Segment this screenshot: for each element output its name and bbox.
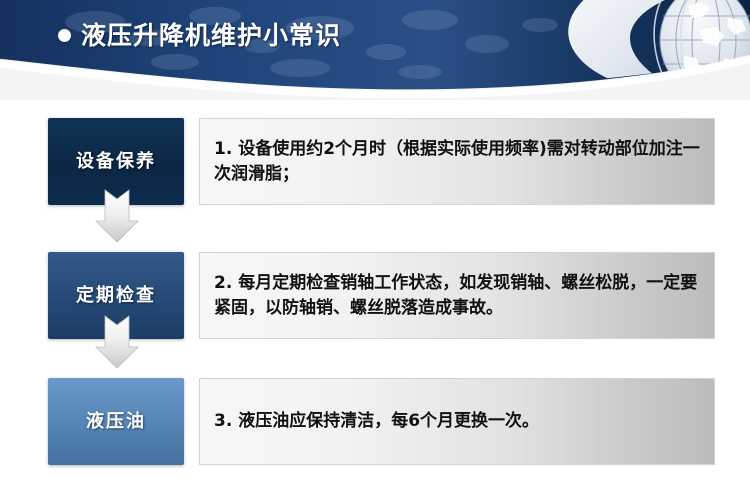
down-arrow-icon: [95, 314, 139, 370]
page-title: 液压升降机维护小常识: [58, 23, 341, 48]
down-arrow-shape: [95, 314, 139, 370]
content-rows: 设备保养 1. 设备使用约2个月时（根据实际使用频率)需对转动部位加注一次润滑脂…: [0, 100, 750, 495]
slide-root: 液压升降机维护小常识 设备保养 1. 设备使用约2个月时（根据实际使用频率)需对…: [0, 0, 750, 495]
row-content-text: 3. 液压油应保持清洁，每6个月更换一次。: [214, 409, 539, 434]
page-title-text: 液压升降机维护小常识: [81, 23, 341, 48]
row-content-box: 3. 液压油应保持清洁，每6个月更换一次。: [199, 378, 715, 465]
row-label-text: 定期检查: [76, 287, 156, 305]
maintenance-row: 液压油 3. 液压油应保持清洁，每6个月更换一次。: [0, 378, 750, 465]
row-label-text: 液压油: [86, 413, 146, 431]
banner-background-graphic: [0, 0, 750, 100]
row-content-box: 1. 设备使用约2个月时（根据实际使用频率)需对转动部位加注一次润滑脂；: [199, 118, 715, 205]
row-label-hydraulic-oil[interactable]: 液压油: [48, 378, 184, 465]
bullet-dot-icon: [58, 29, 71, 42]
row-content-text: 1. 设备使用约2个月时（根据实际使用频率)需对转动部位加注一次润滑脂；: [214, 137, 701, 186]
row-content-text: 2. 每月定期检查销轴工作状态，如发现销轴、螺丝松脱，一定要紧固，以防轴销、螺丝…: [214, 271, 701, 320]
row-label-text: 设备保养: [76, 153, 156, 171]
header-banner: 液压升降机维护小常识: [0, 0, 750, 100]
row-content-box: 2. 每月定期检查销轴工作状态，如发现销轴、螺丝松脱，一定要紧固，以防轴销、螺丝…: [199, 252, 715, 339]
down-arrow-shape: [95, 188, 139, 244]
down-arrow-icon: [95, 188, 139, 244]
